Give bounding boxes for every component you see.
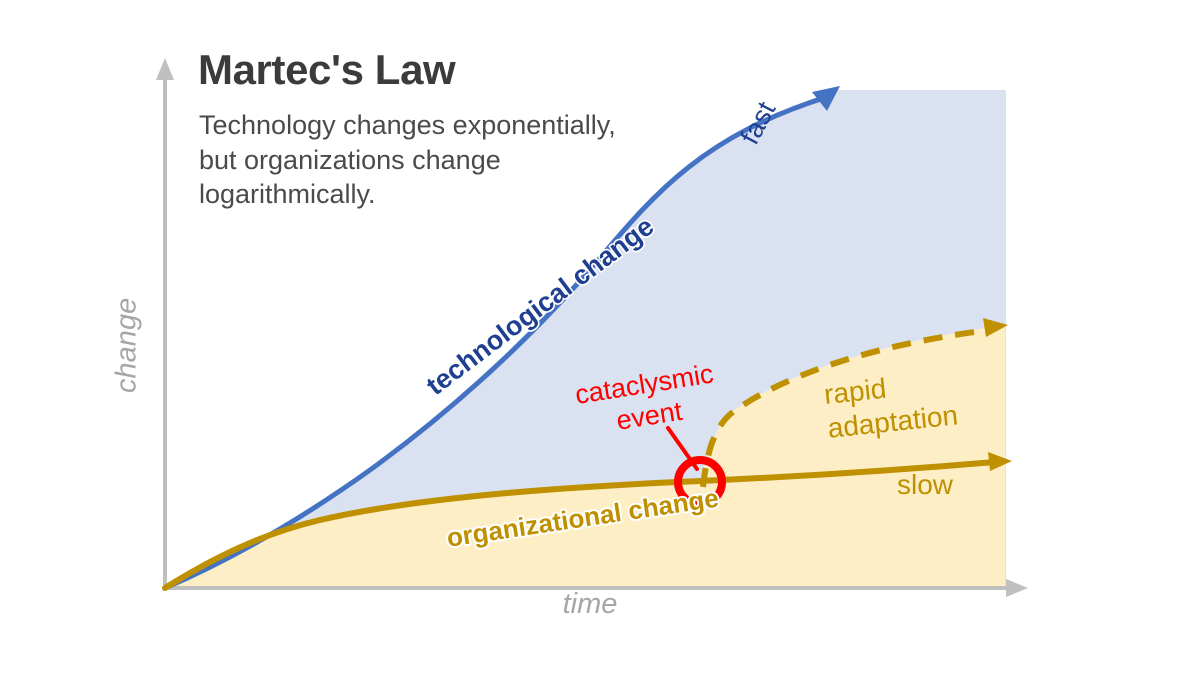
y-axis-arrowhead <box>156 58 174 80</box>
page-subtitle: Technology changes exponentially, but or… <box>199 108 616 212</box>
slow-label: slow <box>897 470 953 500</box>
y-axis-label: change <box>112 215 143 475</box>
x-axis-label: time <box>470 589 710 620</box>
chart-canvas <box>0 0 1200 675</box>
page-title: Martec's Law <box>198 48 455 93</box>
martecs-law-chart: Martec's Law Technology changes exponent… <box>0 0 1200 675</box>
rapid-adaptation-label: rapid adaptation <box>822 365 959 447</box>
x-axis-arrowhead <box>1006 579 1028 597</box>
